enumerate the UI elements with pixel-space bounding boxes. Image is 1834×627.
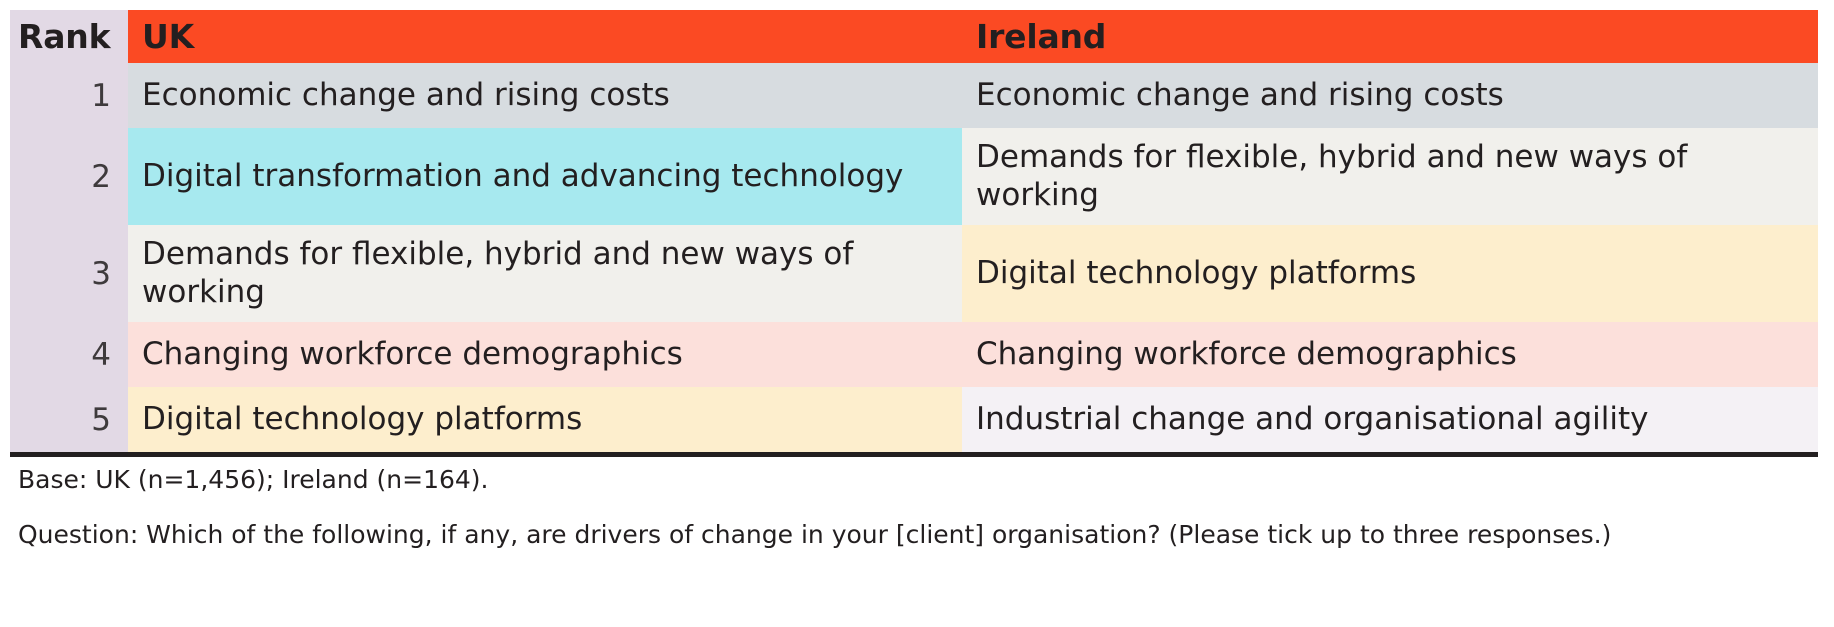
ireland-topic: Economic change and rising costs <box>962 63 1818 128</box>
uk-topic: Digital technology platforms <box>128 387 962 452</box>
drivers-of-change-table: Rank UK Ireland 1 Economic change and ri… <box>10 10 1818 452</box>
uk-topic: Digital transformation and advancing tec… <box>128 128 962 225</box>
footnote-question: Question: Which of the following, if any… <box>18 522 1818 547</box>
uk-topic: Changing workforce demographics <box>128 322 962 387</box>
table-row: 4 Changing workforce demographics Changi… <box>10 322 1818 387</box>
ranking-table-page: Rank UK Ireland 1 Economic change and ri… <box>0 0 1834 627</box>
ireland-topic: Industrial change and organisational agi… <box>962 387 1818 452</box>
table-row: 2 Digital transformation and advancing t… <box>10 128 1818 225</box>
ireland-topic: Digital technology platforms <box>962 225 1818 322</box>
header-row: Rank UK Ireland <box>10 10 1818 63</box>
table-row: 1 Economic change and rising costs Econo… <box>10 63 1818 128</box>
column-header-uk: UK <box>128 10 962 63</box>
column-header-rank: Rank <box>10 10 128 63</box>
table-header: Rank UK Ireland <box>10 10 1818 63</box>
column-header-ireland: Ireland <box>962 10 1818 63</box>
rank-value: 2 <box>10 128 128 225</box>
table-row: 5 Digital technology platforms Industria… <box>10 387 1818 452</box>
table-body: 1 Economic change and rising costs Econo… <box>10 63 1818 452</box>
uk-topic: Economic change and rising costs <box>128 63 962 128</box>
footnotes: Base: UK (n=1,456); Ireland (n=164). Que… <box>18 462 1818 547</box>
rank-value: 4 <box>10 322 128 387</box>
table-bottom-rule <box>10 452 1818 457</box>
footnote-base: Base: UK (n=1,456); Ireland (n=164). <box>18 467 1818 492</box>
rank-value: 1 <box>10 63 128 128</box>
ireland-topic: Changing workforce demographics <box>962 322 1818 387</box>
uk-topic: Demands for flexible, hybrid and new way… <box>128 225 962 322</box>
rank-value: 5 <box>10 387 128 452</box>
table-row: 3 Demands for flexible, hybrid and new w… <box>10 225 1818 322</box>
ireland-topic: Demands for flexible, hybrid and new way… <box>962 128 1818 225</box>
rank-value: 3 <box>10 225 128 322</box>
